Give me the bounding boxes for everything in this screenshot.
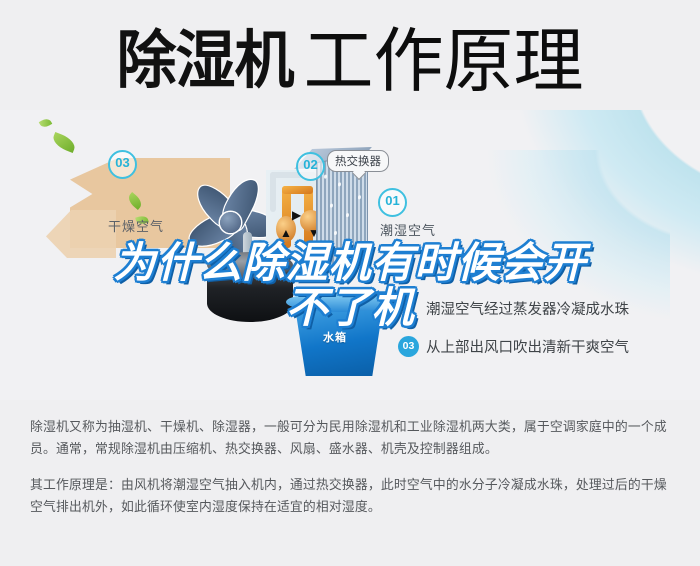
body-paragraph-1: 除湿机又称为抽湿机、干燥机、除湿器，一般可分为民用除湿机和工业除湿机两大类，属于… [30,416,674,460]
legend-item: 02 潮湿空气经过蒸发器冷凝成水珠 [398,296,698,320]
legend-text: 从上部出风口吹出清新干爽空气 [426,336,629,357]
dry-air-label: 干燥空气 [108,216,164,235]
callout-badge-02: 02 [296,152,325,181]
legend-badge: 03 [398,336,419,357]
callout-badge-03: 03 [108,150,137,179]
body-paragraph-2: 其工作原理是：由风机将潮湿空气抽入机内，通过热交换器，此时空气中的水分子冷凝成水… [30,474,674,518]
page-root: 除湿机 工作原理 ▶ ▲ [0,0,700,566]
page-title-part1: 除湿机 [117,30,294,93]
legend-item: 03 从上部出风口吹出清新干爽空气 [398,334,698,358]
moist-air-label: 潮湿空气 [380,220,436,239]
callout-badge-01: 01 [378,188,407,217]
legend-list: 02 潮湿空气经过蒸发器冷凝成水珠 03 从上部出风口吹出清新干爽空气 [398,296,698,372]
water-tank-lip [286,292,392,312]
leaf-icon [50,132,77,153]
legend-text: 潮湿空气经过蒸发器冷凝成水珠 [426,298,629,319]
page-title-part2: 工作原理 [304,26,584,96]
heat-exchanger-callout-bubble: 热交换器 [327,150,389,172]
page-title: 除湿机 工作原理 [0,22,700,100]
compressor-top [207,252,293,278]
body-text: 除湿机又称为抽湿机、干燥机、除湿器，一般可分为民用除湿机和工业除湿机两大类，属于… [30,416,674,532]
dry-air-arrow-tail [46,210,116,258]
leaf-icon [39,117,53,129]
water-tank-label: 水箱 [323,329,347,345]
